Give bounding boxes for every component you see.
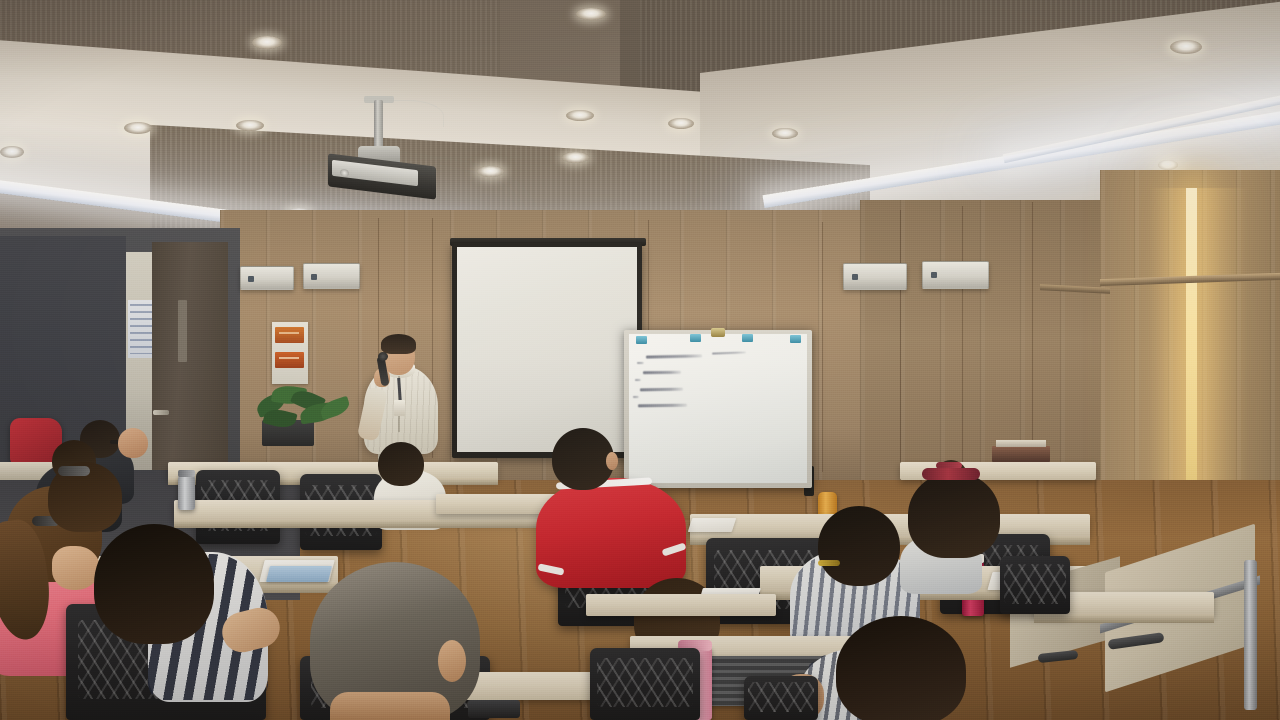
folded-table-post[interactable] (1244, 560, 1257, 710)
poster-orange-upper (275, 327, 304, 343)
projection-screen (457, 247, 637, 452)
wall-ac-unit (843, 263, 907, 290)
downlight-icon (477, 166, 504, 177)
whiteboard-handwriting-line (637, 362, 644, 364)
table-edge (1034, 614, 1214, 623)
projector-lens-icon (340, 168, 349, 177)
whiteboard-clip[interactable] (790, 335, 801, 343)
downlight-icon (668, 118, 694, 129)
door[interactable] (152, 242, 228, 487)
poster-orange-lower (275, 352, 304, 368)
audience-ear (438, 640, 466, 682)
downlight-icon (0, 146, 24, 158)
presenter-badge (394, 400, 405, 416)
table-edge (174, 520, 554, 528)
downlight-icon (772, 128, 798, 139)
indicator-dot (311, 274, 317, 280)
stacked-books (996, 440, 1046, 447)
downlight-icon (124, 122, 152, 134)
downlight-icon (566, 110, 594, 121)
wall-seam (822, 222, 823, 472)
wall-seam (648, 220, 649, 340)
whiteboard-clip[interactable] (742, 334, 753, 342)
paper-handout (688, 518, 737, 532)
microphone-head-icon (378, 352, 388, 361)
chair-mesh-back (748, 682, 813, 712)
wall-ac-unit (922, 261, 989, 289)
audience-head (94, 524, 214, 644)
audience-ear (606, 452, 618, 470)
smartphone-icon (468, 700, 520, 718)
steel-thermos (178, 474, 195, 510)
notice-board-text (130, 304, 154, 354)
downlight-icon (562, 152, 589, 163)
audience-head (836, 616, 966, 720)
whiteboard-center-clamp[interactable] (711, 328, 725, 337)
indicator-dot (931, 272, 937, 278)
wall-ac-unit (303, 263, 360, 289)
whiteboard-handwriting-line (635, 379, 641, 381)
whiteboard-handwriting-line (643, 371, 681, 374)
audience-face (52, 546, 100, 590)
mesh-chair[interactable] (590, 648, 700, 720)
chair-mesh-back (1004, 564, 1066, 603)
downlight-icon (1170, 40, 1202, 54)
mesh-chair[interactable] (1000, 556, 1070, 614)
poster-text-line (279, 332, 299, 334)
downlight-icon (252, 36, 282, 49)
audience-head (818, 506, 900, 586)
downlight-icon (1158, 160, 1178, 170)
whiteboard-handwriting-line (633, 396, 639, 398)
wall-ac-unit (240, 266, 294, 290)
training-table (586, 594, 776, 616)
hair-tie (58, 466, 90, 476)
downlight-icon (576, 8, 606, 20)
door-handle[interactable] (153, 410, 169, 415)
photo-scene: A male presenter holding a microphone sp… (0, 0, 1280, 720)
hair-tie (922, 468, 980, 480)
projector-mount-pole (374, 100, 383, 152)
eyeglasses-icon (818, 560, 840, 566)
scene-caption: A male presenter holding a microphone sp… (0, 0, 1, 1)
presenter-hair (381, 334, 416, 354)
paper-handout (266, 566, 332, 582)
whiteboard-clip[interactable] (690, 334, 701, 342)
thermos-cap (178, 470, 195, 477)
door-sign (178, 300, 187, 362)
mesh-chair[interactable] (744, 676, 818, 720)
audience-head (908, 472, 1000, 558)
whiteboard-clip[interactable] (636, 336, 647, 344)
audience-head (378, 442, 424, 486)
poster-text-line (279, 357, 299, 359)
audience-head (118, 428, 148, 458)
indicator-dot (852, 274, 858, 280)
indicator-dot (248, 276, 254, 282)
stacked-books (992, 446, 1050, 462)
audience-neck (330, 692, 450, 720)
audience-head (552, 428, 614, 490)
downlight-icon (236, 120, 264, 131)
chair-mesh-back (597, 658, 694, 707)
